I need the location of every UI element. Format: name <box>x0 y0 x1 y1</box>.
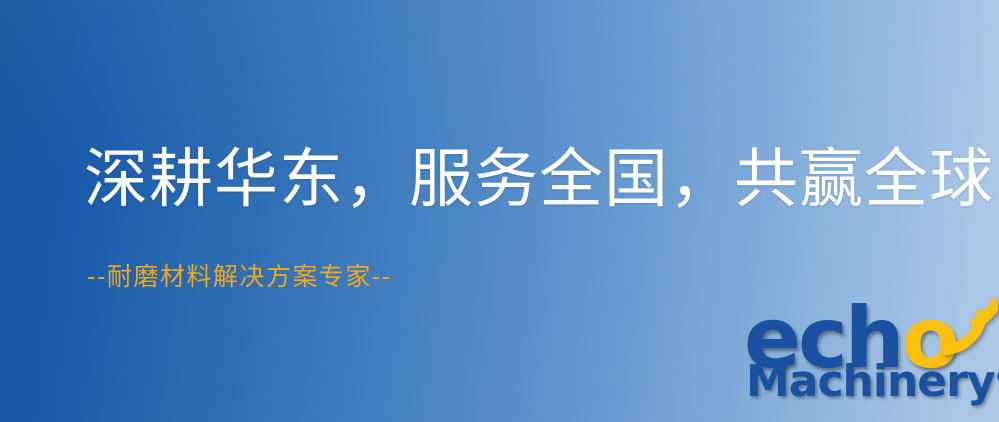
logo-text-machinery: Machinery <box>746 356 995 407</box>
registered-trademark-icon: ® <box>995 365 999 389</box>
company-logo[interactable]: echo Machinery® <box>744 296 999 422</box>
banner-subtitle: --耐磨材料解决方案专家-- <box>87 262 392 292</box>
banner-headline: 深耕华东，服务全国，共赢全球 <box>84 146 994 215</box>
logo-wordmark-machinery: Machinery® <box>746 360 999 404</box>
hero-banner: 深耕华东，服务全国，共赢全球 --耐磨材料解决方案专家-- echo Machi… <box>0 0 999 422</box>
signal-waves-icon <box>926 294 998 360</box>
